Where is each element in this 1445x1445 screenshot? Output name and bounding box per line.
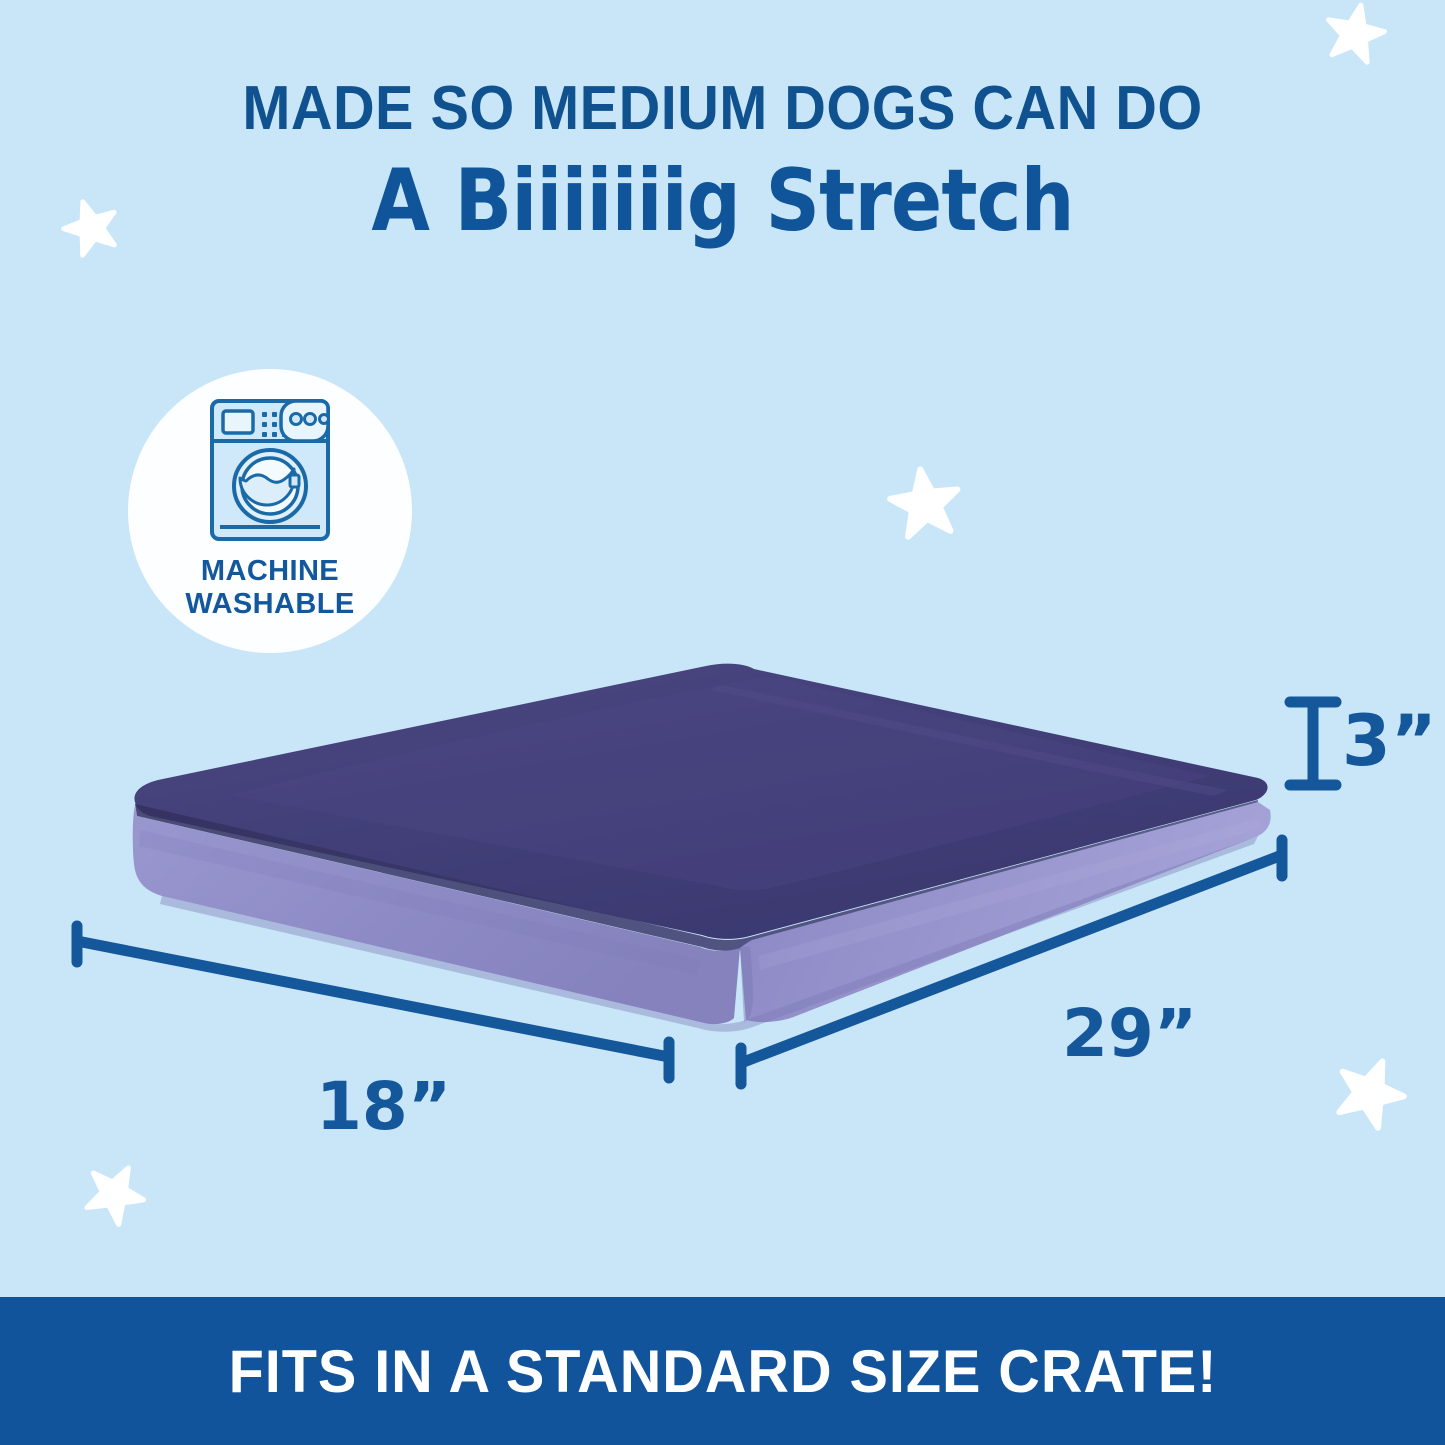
machine-washable-label-line-2: WASHABLE	[185, 588, 354, 621]
machine-washable-label-line-1: MACHINE	[185, 555, 354, 588]
width-dimension-label: 18”	[316, 1068, 451, 1145]
star-top-right	[1318, 0, 1392, 70]
height-dimension-label: 3”	[1342, 700, 1437, 782]
depth-dimension-label: 29”	[1062, 995, 1197, 1072]
machine-washable-label: MACHINE WASHABLE	[185, 555, 354, 622]
headline: MADE SO MEDIUM DOGS CAN DO A Biiiiiiig S…	[0, 78, 1445, 244]
bottom-banner: FITS IN A STANDARD SIZE CRATE!	[0, 1297, 1445, 1445]
product-infographic: MADE SO MEDIUM DOGS CAN DO A Biiiiiiig S…	[0, 0, 1445, 1445]
star-middle	[883, 461, 967, 545]
star-bottom-left	[73, 1151, 157, 1235]
washing-machine-icon	[206, 397, 334, 543]
star-bottom-right	[1323, 1045, 1417, 1139]
height-dimension-line	[1290, 702, 1336, 785]
machine-washable-badge: MACHINE WASHABLE	[128, 369, 412, 653]
bottom-banner-text: FITS IN A STANDARD SIZE CRATE!	[228, 1337, 1217, 1406]
headline-line-2: A Biiiiiiig Stretch	[87, 158, 1359, 244]
dog-bed-product-image	[110, 630, 1290, 1050]
headline-line-1: MADE SO MEDIUM DOGS CAN DO	[51, 78, 1395, 140]
